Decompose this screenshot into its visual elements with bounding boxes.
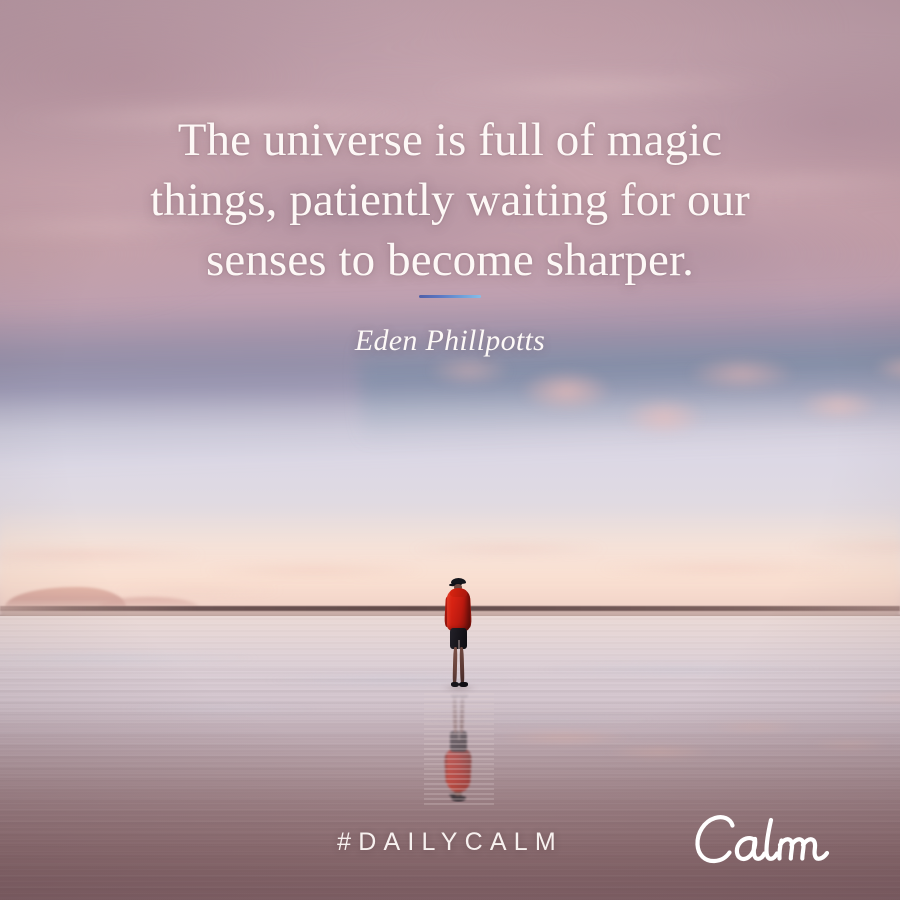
quote-text: The universe is full of magic things, pa… bbox=[0, 110, 900, 290]
quote-line-1: The universe is full of magic bbox=[0, 110, 900, 170]
calm-logo: Calm bbox=[686, 812, 836, 874]
quote-author: Eden Phillpotts bbox=[0, 322, 900, 360]
quote-line-2: things, patiently waiting for our bbox=[0, 170, 900, 230]
text-overlay: The universe is full of magic things, pa… bbox=[0, 0, 900, 900]
quote-line-3: senses to become sharper. bbox=[0, 230, 900, 290]
calm-wordmark-icon: Calm bbox=[686, 812, 836, 874]
divider-rule bbox=[419, 295, 481, 298]
hashtag-dailycalm: #DAILYCALM bbox=[250, 828, 650, 857]
quote-card: The universe is full of magic things, pa… bbox=[0, 0, 900, 900]
